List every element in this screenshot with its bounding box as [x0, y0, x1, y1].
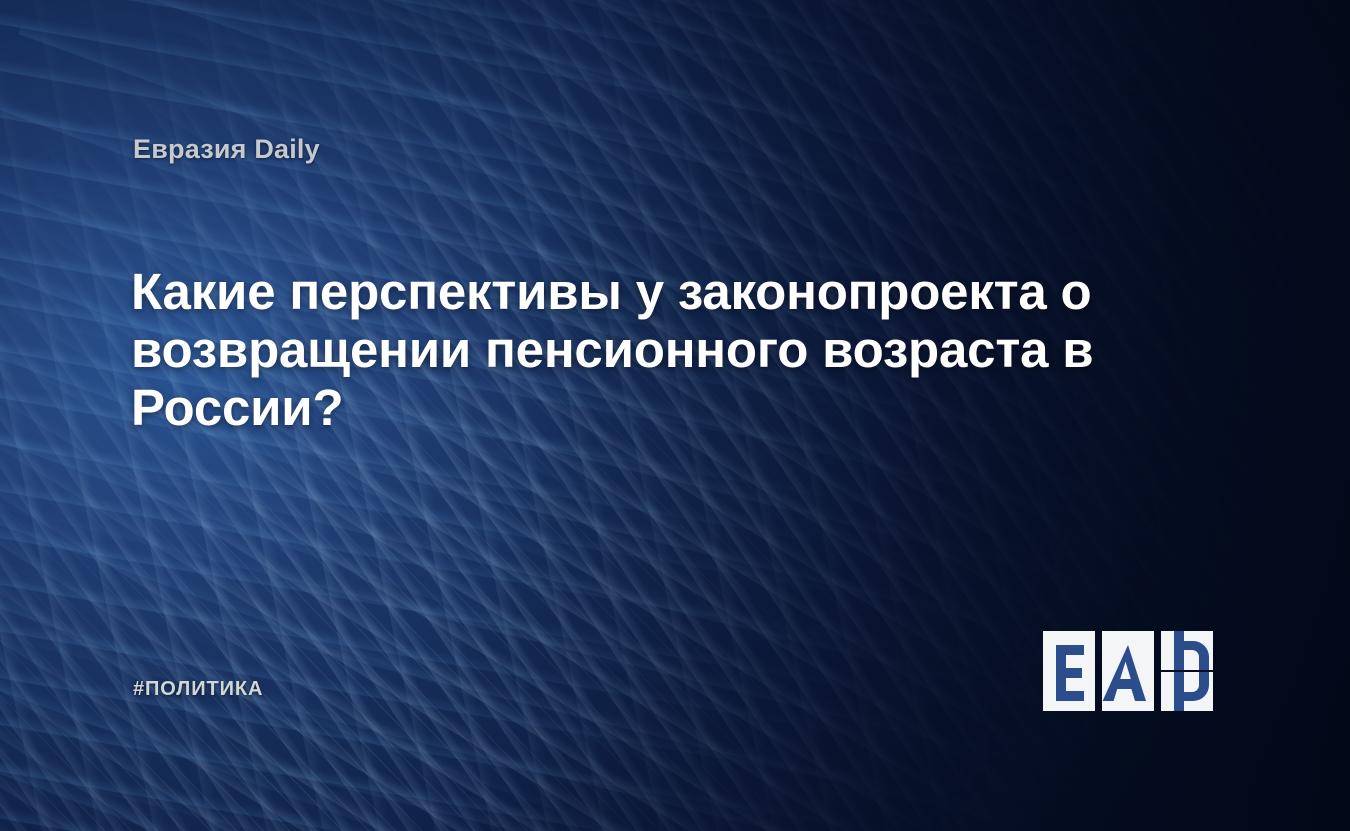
publication-brand: Евразия Daily [133, 134, 320, 165]
page-title: Какие перспективы у законопроекта о возв… [131, 263, 1201, 437]
card-content: Евразия Daily Какие перспективы у законо… [0, 0, 1350, 831]
category-tag-politika[interactable]: #ПОЛИТИКА [133, 678, 263, 701]
article-cover-card: Евразия Daily Какие перспективы у законо… [0, 0, 1350, 831]
logo-letter-e-glyph [1056, 645, 1084, 701]
eadaily-logo[interactable] [1043, 627, 1221, 715]
